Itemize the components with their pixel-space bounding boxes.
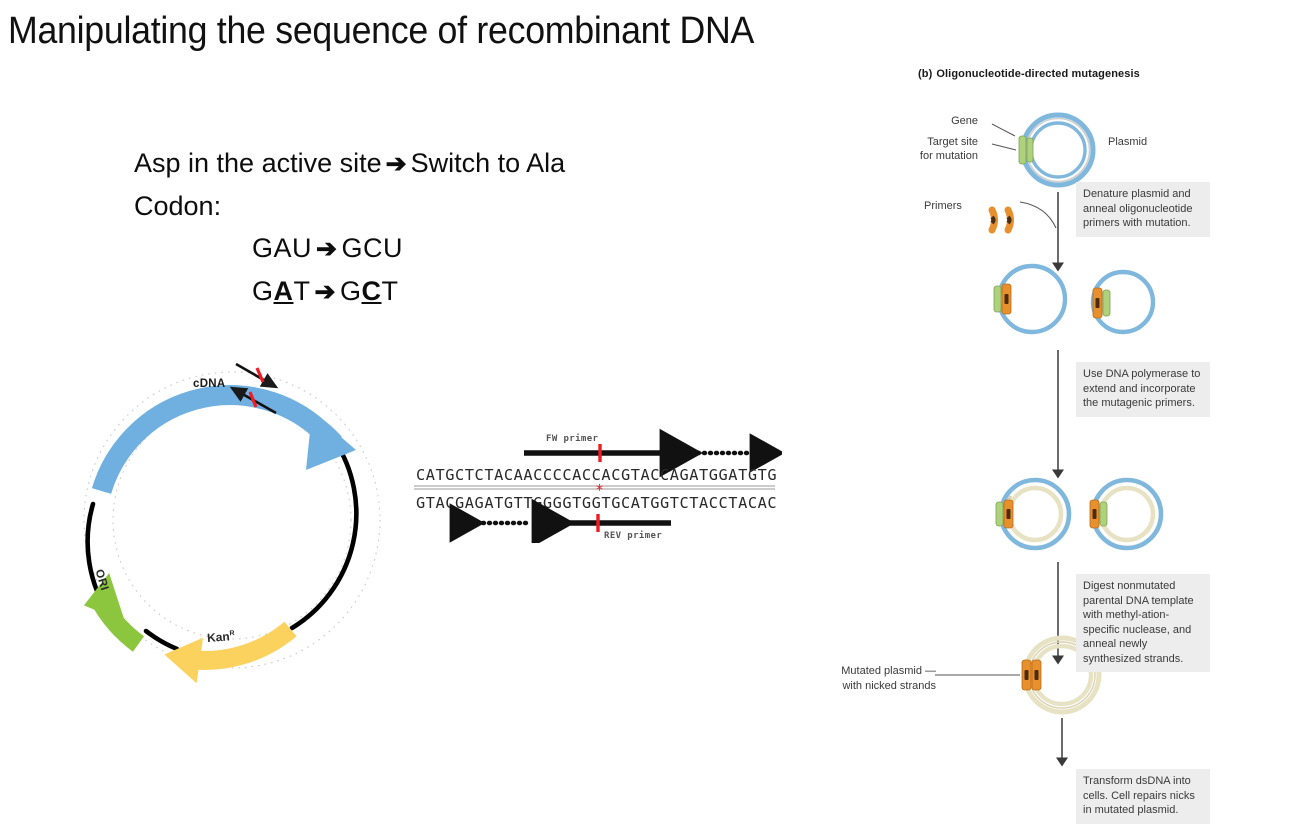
label-mutated-plasmid: Mutated plasmid — <box>820 664 936 678</box>
step3-extended-strands <box>996 480 1161 548</box>
step1-parental-plasmid <box>992 115 1093 185</box>
plasmid-label-cdna: cDNA <box>193 378 226 390</box>
switch-text: Switch to Ala <box>411 148 566 178</box>
codon-dna-to-post: T <box>381 276 398 306</box>
kan-text: Kan <box>207 629 231 645</box>
rev-primer-label: REV primer <box>604 530 662 541</box>
primer-sequence-diagram: FW primer CATGCTCTACAACCCCACCACGTACCAGAT… <box>412 428 782 543</box>
label-target-site-line2: for mutation <box>874 149 978 163</box>
step2-denatured-strands <box>994 266 1153 332</box>
codon-dna-to-mutation: C <box>361 276 381 306</box>
label-target-site: Target site <box>874 135 978 149</box>
codon-rna-to: GCU <box>341 233 403 263</box>
codon-dna-from-mutation: A <box>274 276 294 306</box>
step-callout-4: Transform dsDNA into cells. Cell repairs… <box>1076 769 1210 824</box>
cdna-arrow <box>102 395 357 491</box>
step4-mutated-plasmid <box>935 638 1099 712</box>
step-callout-2: Use DNA polymerase to extend and incorpo… <box>1076 362 1210 417</box>
slide-canvas: Manipulating the sequence of recombinant… <box>0 0 1303 803</box>
codon-dna-from-post: T <box>294 276 311 306</box>
codon-dna-line: GAT➔GCT <box>252 270 565 313</box>
page-title: Manipulating the sequence of recombinant… <box>8 8 754 54</box>
step-callout-1: Denature plasmid and anneal oligonucleot… <box>1076 182 1210 237</box>
label-gene: Gene <box>874 114 978 128</box>
label-plasmid: Plasmid <box>1108 135 1147 149</box>
codon-dna-from-pre: G <box>252 276 274 306</box>
body-line-asp: Asp in the active site➔Switch to Ala <box>134 142 565 185</box>
codon-rna-from: GAU <box>252 233 312 263</box>
arrow-glyph: ➔ <box>382 150 411 178</box>
plasmid-label-kan: KanR <box>207 629 236 645</box>
arrow-glyph: ➔ <box>311 278 340 306</box>
label-mutated-plasmid-line2: with nicked strands <box>820 679 936 693</box>
label-primers: Primers <box>924 199 962 213</box>
body-line-codon: Codon: <box>134 185 565 227</box>
asp-text: Asp in the active site <box>134 148 382 178</box>
codon-dna-to-pre: G <box>340 276 362 306</box>
primers-icon <box>992 202 1056 230</box>
arrow-glyph: ➔ <box>312 235 341 263</box>
forward-primer-arrow <box>236 364 276 387</box>
body-text-block: Asp in the active site➔Switch to Ala Cod… <box>134 142 565 313</box>
codon-rna-line: GAU➔GCU <box>252 227 565 270</box>
bottom-strand-sequence: GTACGAGATGTTGGGGTGGTGCATGGTCTACCTACAC <box>416 494 777 512</box>
backbone-arc-bottom <box>146 631 177 649</box>
primer-sequence-svg: FW primer CATGCTCTACAACCCCACCACGTACCAGAT… <box>412 428 782 543</box>
fw-primer-label: FW primer <box>546 433 599 444</box>
figure-b-oligonucleotide-mutagenesis: (b)Oligonucleotide-directed mutagenesis <box>880 62 1300 802</box>
backbone-arc-right <box>292 441 356 628</box>
figure-b-svg <box>880 62 1300 802</box>
step-callout-3: Digest nonmutated parental DNA template … <box>1076 574 1210 672</box>
kan-superscript: R <box>229 630 235 637</box>
